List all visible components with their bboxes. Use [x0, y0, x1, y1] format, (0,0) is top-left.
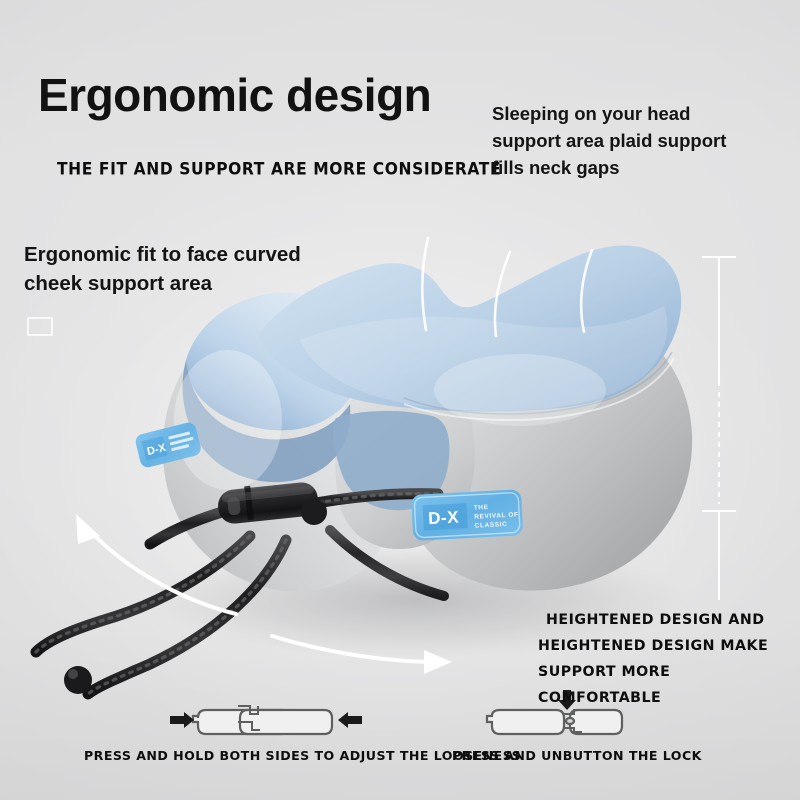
- callout-bottom-right-line3: SUPPORT MORE COMFORTABLE: [538, 660, 792, 712]
- caption-unbutton-lock: PRESS AND UNBUTTON THE LOCK: [452, 748, 702, 763]
- callout-top-right-line3: fills neck gaps: [492, 154, 768, 181]
- product-poster: D-X D-X THE REVIVAL OF CLASSIC: [0, 0, 800, 800]
- measure-segment-solid-bottom: [718, 510, 720, 600]
- svg-text:THE: THE: [474, 504, 489, 512]
- height-measurement-line: [718, 256, 720, 600]
- cord-end-toggle: [64, 666, 92, 694]
- callout-left: Ergonomic fit to face curved cheek suppo…: [24, 240, 394, 298]
- subtitle: THE FIT AND SUPPORT ARE MORE CONSIDERATE: [57, 159, 501, 178]
- diagram-adjust-looseness: [193, 706, 332, 734]
- product-badge-primary: D-X THE REVIVAL OF CLASSIC: [411, 489, 523, 541]
- callout-bottom-right-line2: HEIGHTENED DESIGN MAKE: [538, 634, 792, 660]
- callout-bottom-right-line1: HEIGHTENED DESIGN AND: [546, 608, 792, 634]
- callout-top-right: Sleeping on your head support area plaid…: [492, 100, 768, 182]
- callout-top-right-line2: support area plaid support: [492, 127, 768, 154]
- measure-cap-bottom: [702, 510, 736, 512]
- svg-text:D-X: D-X: [428, 508, 460, 529]
- page-title: Ergonomic design: [38, 68, 431, 122]
- callout-left-line2: cheek support area: [24, 269, 394, 298]
- callout-bottom-right: HEIGHTENED DESIGN AND HEIGHTENED DESIGN …: [546, 608, 792, 711]
- callout-top-right-line1: Sleeping on your head: [492, 100, 768, 127]
- callout-left-line1: Ergonomic fit to face curved: [24, 240, 394, 269]
- measure-segment-solid-top: [718, 256, 720, 386]
- corner-marker: [27, 317, 53, 336]
- measure-segment-dotted: [718, 392, 720, 504]
- diagram-unbutton-lock: [487, 710, 622, 734]
